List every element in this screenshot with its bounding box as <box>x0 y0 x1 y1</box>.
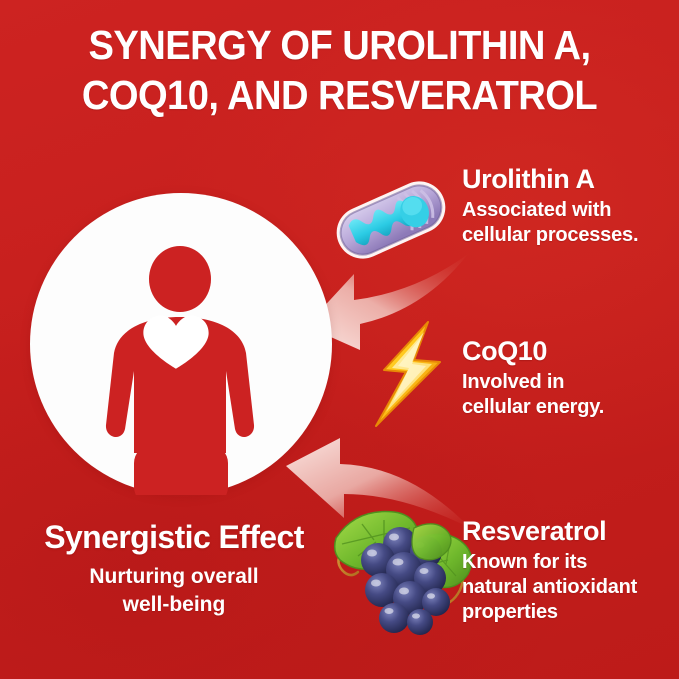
ingredient-description-resveratrol: Known for its natural antioxidant proper… <box>462 550 679 625</box>
ingredient-heading-urolithin-a: Urolithin A <box>462 164 679 195</box>
description-line: Associated with <box>462 198 679 223</box>
ingredient-heading-resveratrol: Resveratrol <box>462 516 679 547</box>
description-line: Involved in <box>462 370 679 395</box>
description-line: properties <box>462 600 679 625</box>
infographic-poster: SYNERGY OF UROLITHIN A, COQ10, AND RESVE… <box>0 0 679 679</box>
synergy-block: Synergistic Effect Nurturing overall wel… <box>14 518 334 619</box>
title-line-1: SYNERGY OF UROLITHIN A, <box>37 20 642 70</box>
title-line-2: COQ10, AND RESVERATROL <box>37 70 642 120</box>
ingredient-block-coq10: CoQ10 Involved in cellular energy. <box>462 336 679 420</box>
mitochondria-icon <box>328 168 454 272</box>
description-line: cellular energy. <box>462 395 679 420</box>
ingredient-block-resveratrol: Resveratrol Known for its natural antiox… <box>462 516 679 625</box>
ingredient-description-urolithin-a: Associated with cellular processes. <box>462 198 679 248</box>
person-with-heart-icon <box>30 193 332 495</box>
ingredient-description-coq10: Involved in cellular energy. <box>462 370 679 420</box>
ingredient-block-urolithin-a: Urolithin A Associated with cellular pro… <box>462 164 679 248</box>
poster-title: SYNERGY OF UROLITHIN A, COQ10, AND RESVE… <box>0 20 679 120</box>
ingredient-heading-coq10: CoQ10 <box>462 336 679 367</box>
synergy-heading: Synergistic Effect <box>14 518 334 556</box>
lightning-bolt-icon <box>366 318 452 430</box>
description-line: cellular processes. <box>462 223 679 248</box>
description-line: natural antioxidant <box>462 575 679 600</box>
description-line: Nurturing overall <box>14 563 334 591</box>
description-line: Known for its <box>462 550 679 575</box>
grape-cluster-icon <box>322 498 484 648</box>
description-line: well-being <box>14 591 334 619</box>
synergy-description: Nurturing overall well-being <box>14 563 334 619</box>
